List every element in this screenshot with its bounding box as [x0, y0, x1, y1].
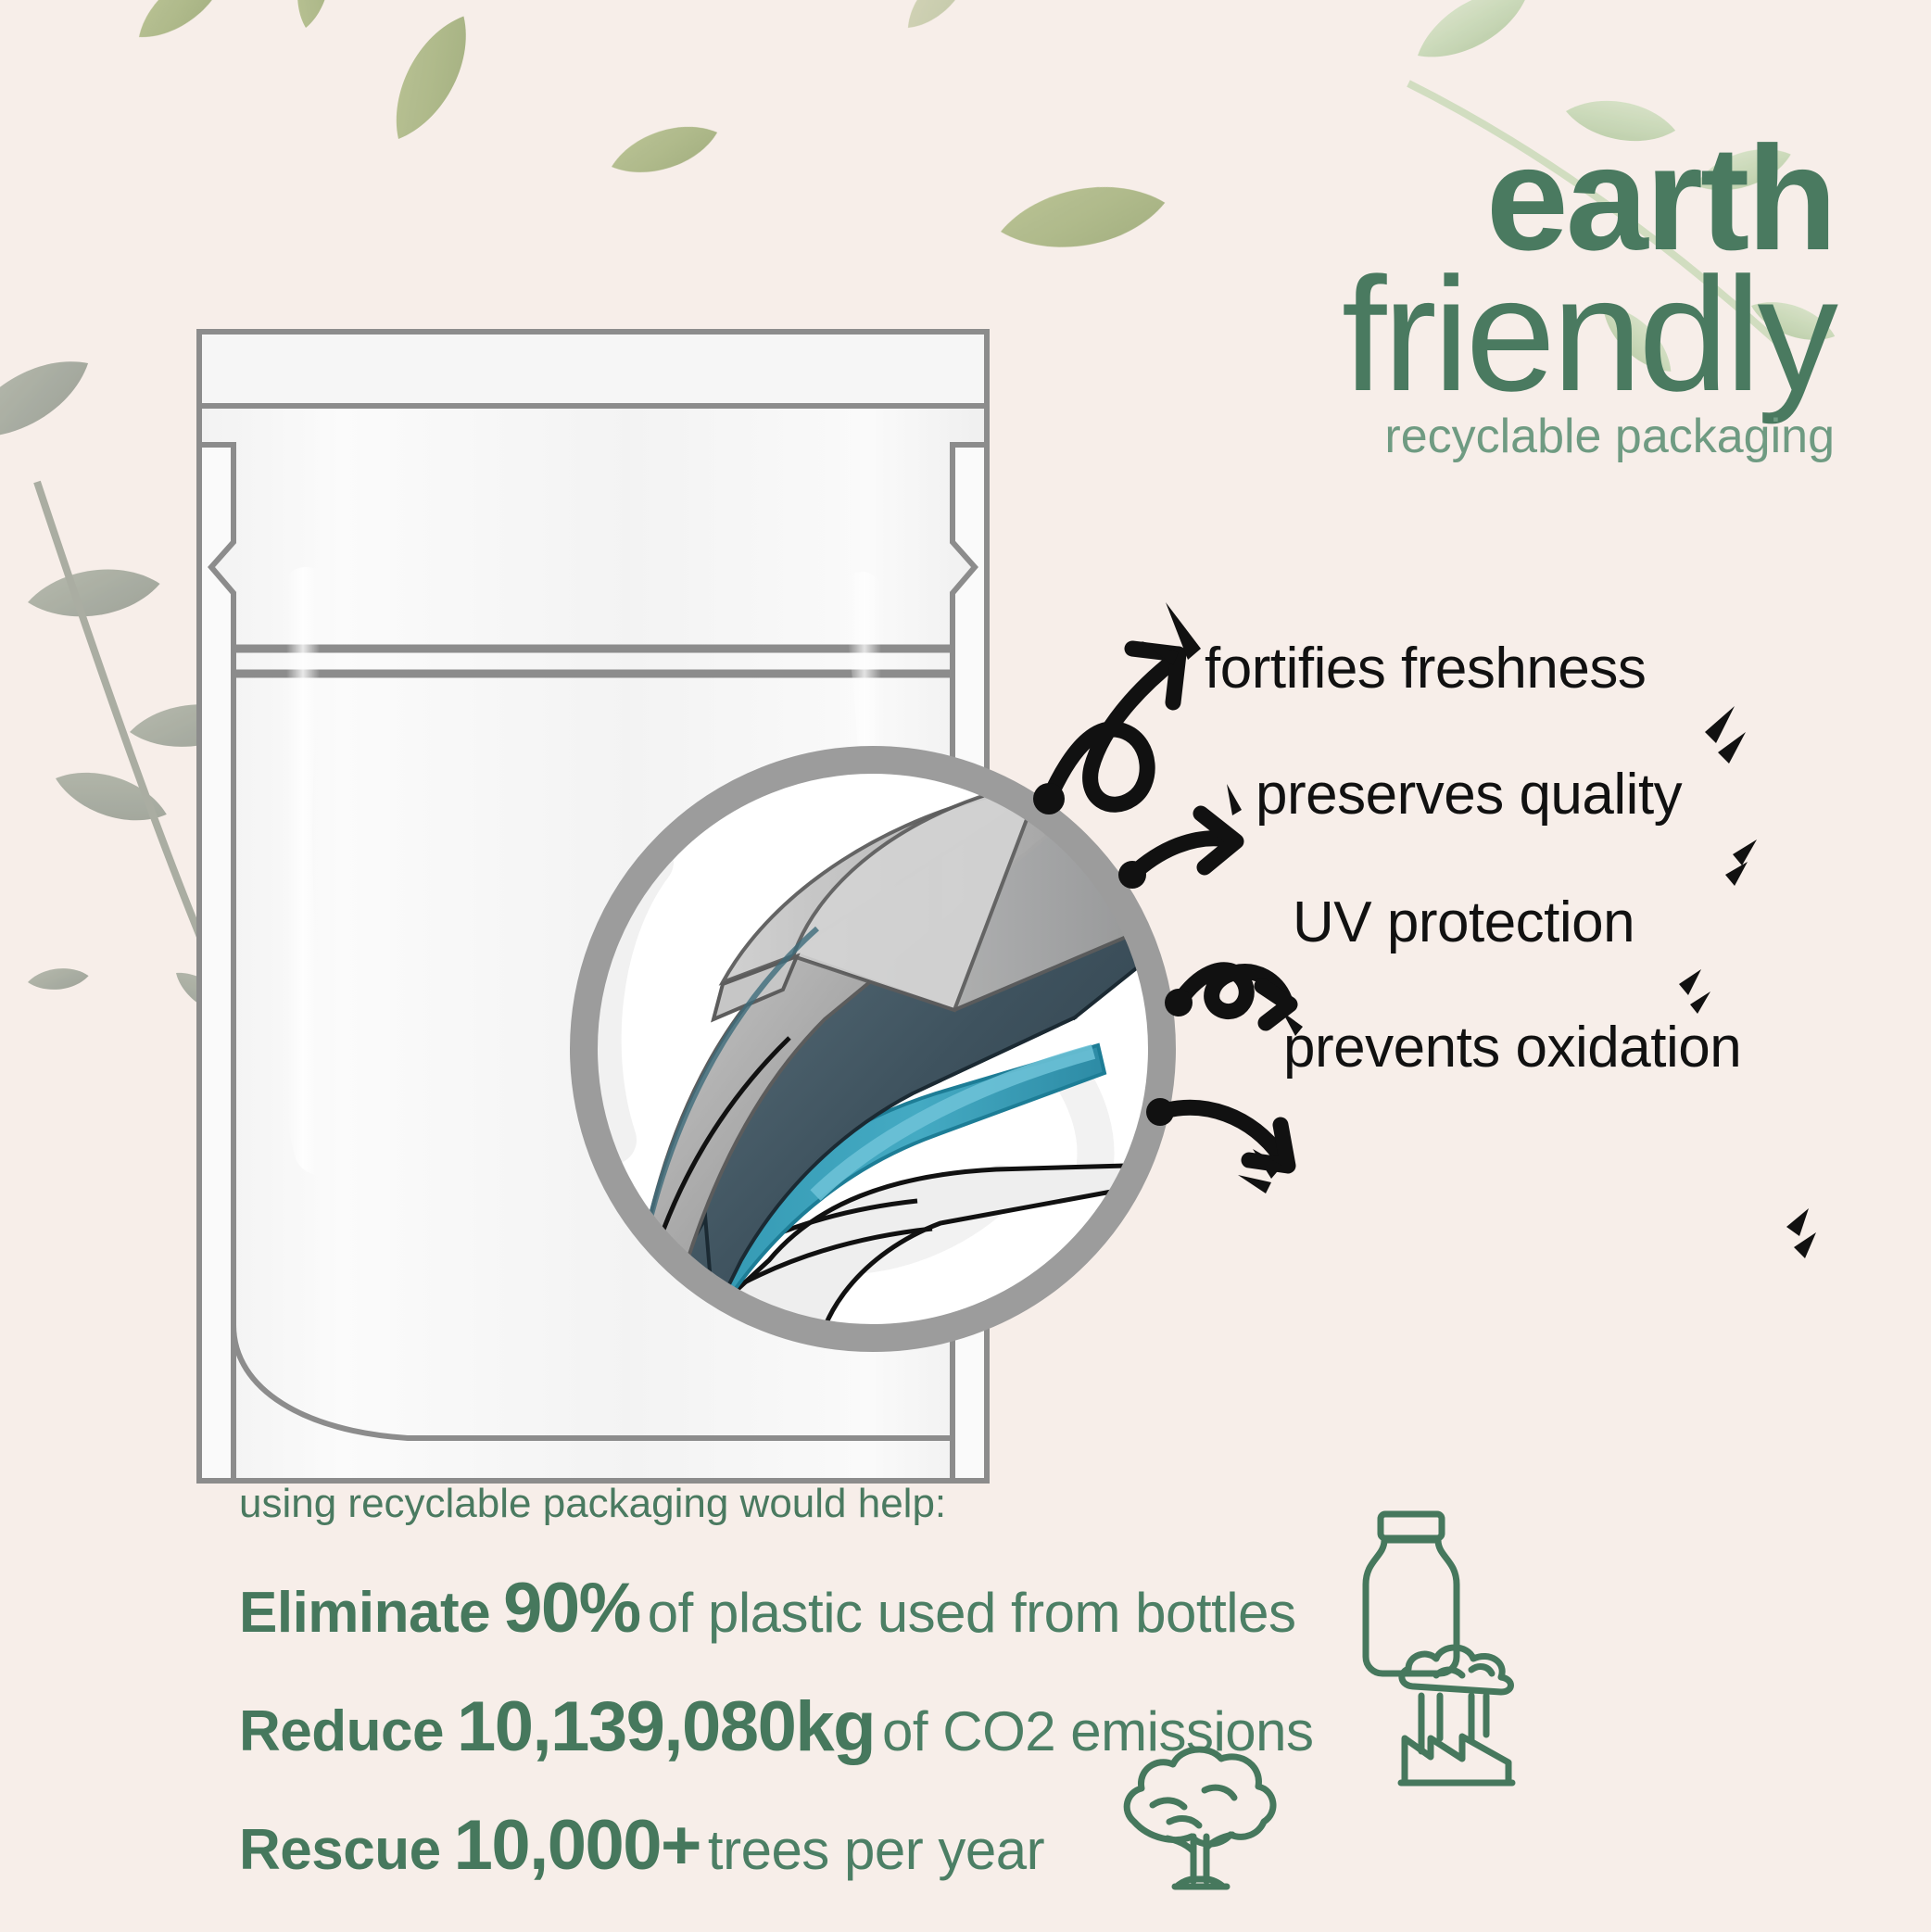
feature-label-fortifies-freshness: fortifies freshness — [1205, 636, 1646, 701]
feature-label-prevents-oxidation: prevents oxidation — [1283, 1015, 1741, 1080]
stat-verb: Reduce — [239, 1699, 444, 1763]
arrow-anchor-dot-3 — [1165, 989, 1193, 1017]
headline-line-2: friendly — [1066, 260, 1835, 410]
curly-arrow-icon — [1049, 649, 1179, 804]
stat-row-trees: Rescue10,000+trees per year — [239, 1809, 1583, 1883]
page-title: earth friendly recyclable packaging — [1066, 130, 1835, 460]
headline-subtitle: recyclable packaging — [1066, 415, 1835, 460]
stat-tail: of plastic used from bottles — [648, 1582, 1296, 1644]
stat-row-co2: Reduce10,139,080kgof CO2 emissions — [239, 1690, 1583, 1764]
loop-arrow-icon — [1179, 970, 1290, 1023]
curved-arrow-down-icon — [1160, 1107, 1288, 1166]
tree-icon — [1112, 1733, 1288, 1900]
stat-value: 90% — [503, 1569, 640, 1648]
stat-verb: Rescue — [239, 1818, 441, 1882]
arrow-anchor-dot-2 — [1118, 861, 1146, 889]
stat-tail: trees per year — [708, 1819, 1044, 1881]
stat-value: 10,139,080kg — [457, 1687, 875, 1766]
arrow-anchor-dot-4 — [1146, 1098, 1174, 1126]
curved-arrow-icon — [1132, 814, 1236, 875]
infographic-canvas: earth friendly recyclable packaging fort… — [0, 0, 1931, 1932]
stat-verb: Eliminate — [239, 1581, 490, 1645]
feature-label-uv-protection: UV protection — [1293, 890, 1634, 955]
stat-value: 10,000+ — [454, 1806, 700, 1885]
feature-label-preserves-quality: preserves quality — [1256, 762, 1682, 827]
arrow-anchor-dot-1 — [1033, 783, 1065, 814]
factory-icon — [1382, 1638, 1531, 1796]
